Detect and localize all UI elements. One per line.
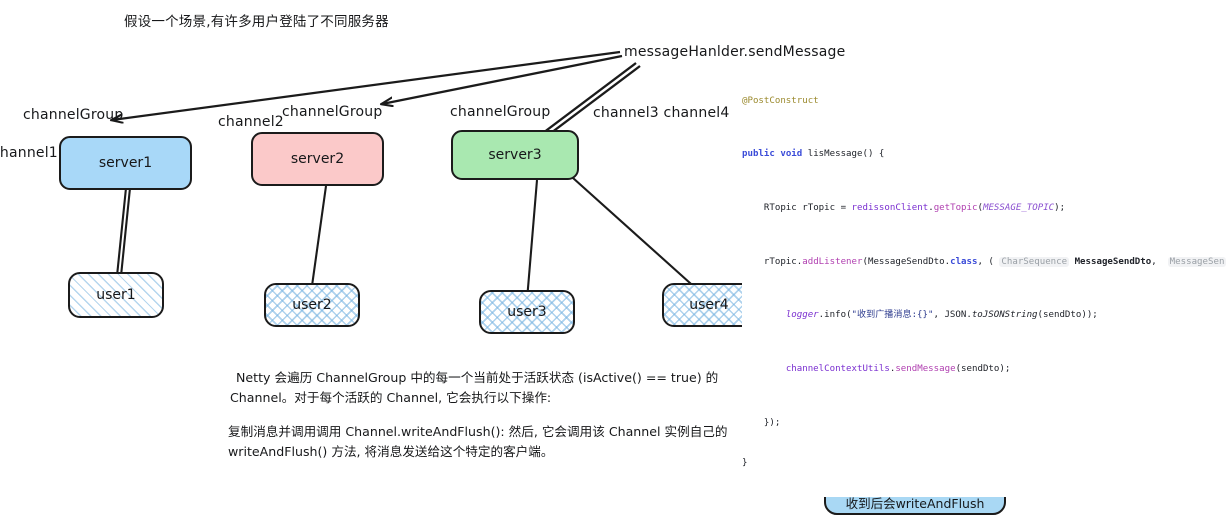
code-type-dto: MessageSendDto bbox=[868, 257, 945, 267]
code-snippet: @PostConstruct public void lisMessage() … bbox=[742, 68, 1228, 497]
broadcast-method-label: messageHanlder.sendMessage bbox=[624, 44, 845, 60]
node-server1[interactable]: server1 bbox=[59, 136, 192, 190]
paragraph-netty-iterate: Netty 会遍历 ChannelGroup 中的每一个当前处于活跃状态 (is… bbox=[236, 368, 718, 408]
connector-server1-user1 bbox=[117, 188, 130, 276]
code-type-rtopic: RTopic bbox=[764, 203, 797, 213]
node-user1-label: user1 bbox=[96, 287, 135, 303]
node-user2-label: user2 bbox=[292, 297, 331, 313]
code-kw-class: class bbox=[950, 257, 977, 267]
code-var-rtopic-2: rTopic bbox=[764, 257, 797, 267]
code-string-log: "收到广播消息:{}" bbox=[852, 310, 934, 320]
node-user3-label: user3 bbox=[507, 304, 546, 320]
code-line-2: public void lisMessage() { bbox=[742, 148, 1228, 161]
code-var-senddto: sendDto bbox=[1043, 310, 1081, 320]
code-hint-trailing: MessageSen bbox=[1168, 257, 1227, 267]
code-call-tojson: toJSONString bbox=[972, 310, 1038, 320]
code-kw-void: void bbox=[780, 149, 802, 159]
paragraph-1-line-1: Netty 会遍历 ChannelGroup 中的每一个当前处于活跃状态 (is… bbox=[236, 368, 718, 388]
code-var-rtopic: rTopic bbox=[802, 203, 835, 213]
code-kw-public: public bbox=[742, 149, 775, 159]
code-call-addlistener: addListener bbox=[802, 257, 862, 267]
node-server2[interactable]: server2 bbox=[251, 132, 384, 186]
code-type-json: JSON bbox=[944, 310, 966, 320]
code-hint-charsequence: CharSequence bbox=[999, 257, 1069, 267]
code-annotation: @PostConstruct bbox=[742, 96, 819, 106]
paragraph-1-line-2: Channel。对于每个活跃的 Channel, 它会执行以下操作: bbox=[230, 388, 718, 408]
node-server1-label: server1 bbox=[99, 155, 152, 171]
server2-channelgroup-label: channelGroup bbox=[282, 104, 382, 120]
page-title: 假设一个场景,有许多用户登陆了不同服务器 bbox=[124, 10, 389, 30]
code-hint-param: MessageSendDto bbox=[1075, 257, 1152, 267]
node-server3[interactable]: server3 bbox=[451, 130, 579, 180]
code-line-5: logger.info("收到广播消息:{}", JSON.toJSONStri… bbox=[742, 309, 1228, 322]
code-line-7: }); bbox=[742, 417, 1228, 430]
node-user1[interactable]: user1 bbox=[68, 272, 164, 318]
server3-channel-label: channel3 channel4 bbox=[593, 105, 729, 121]
code-call-sendmessage: sendMessage bbox=[895, 364, 955, 374]
connector-server3-user4 bbox=[573, 178, 700, 292]
paragraph-2-line-2: writeAndFlush() 方法, 将消息发送给这个特定的客户端。 bbox=[228, 442, 728, 462]
code-line-8: } bbox=[742, 457, 1228, 470]
code-line-3: RTopic rTopic = redissonClient.getTopic(… bbox=[742, 202, 1228, 215]
code-line-4: rTopic.addListener(MessageSendDto.class,… bbox=[742, 256, 1228, 269]
paragraph-2-line-1: 复制消息并调用调用 Channel.writeAndFlush(): 然后, 它… bbox=[228, 422, 728, 442]
connector-server2-user2 bbox=[311, 186, 326, 293]
node-user4-label: user4 bbox=[689, 297, 728, 313]
node-user2[interactable]: user2 bbox=[264, 283, 360, 327]
code-call-gettopic: getTopic bbox=[934, 203, 978, 213]
code-const-topic: MESSAGE_TOPIC bbox=[983, 203, 1054, 213]
server3-channelgroup-label: channelGroup bbox=[450, 104, 550, 120]
code-line-1: @PostConstruct bbox=[742, 95, 1228, 108]
server1-channel-label: channel1 bbox=[0, 145, 58, 161]
node-user3[interactable]: user3 bbox=[479, 290, 575, 334]
code-field-logger: logger bbox=[786, 310, 819, 320]
code-line-6: channelContextUtils.sendMessage(sendDto)… bbox=[742, 363, 1228, 376]
server1-channelgroup-label: channelGroup bbox=[23, 107, 123, 123]
code-field-redisson: redissonClient bbox=[852, 203, 929, 213]
note-3-line-5: 收到后会writeAndFlush bbox=[846, 495, 985, 513]
code-method-name: lisMessage bbox=[808, 149, 863, 159]
code-var-senddto-2: sendDto bbox=[961, 364, 999, 374]
node-server3-label: server3 bbox=[488, 147, 541, 163]
server2-channel-label: channel2 bbox=[218, 114, 284, 130]
code-field-ctxutils: channelContextUtils bbox=[786, 364, 890, 374]
paragraph-writeandflush: 复制消息并调用调用 Channel.writeAndFlush(): 然后, 它… bbox=[228, 422, 728, 462]
code-call-info: info bbox=[824, 310, 846, 320]
node-server2-label: server2 bbox=[291, 151, 344, 167]
connector-server3-user3 bbox=[527, 180, 537, 300]
